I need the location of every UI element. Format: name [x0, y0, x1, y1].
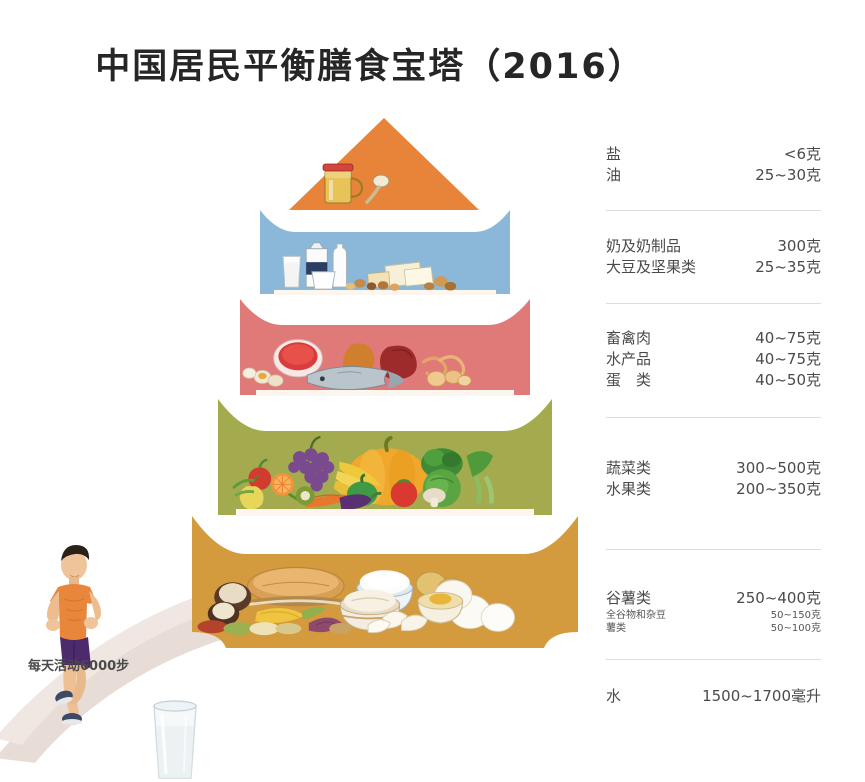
pyramid-tier-grain-tuber: [192, 514, 578, 650]
info-group-grain-tuber: 谷薯类 250~400克 全谷物和杂豆 50~150克 薯类 50~100克: [606, 550, 821, 635]
info-group-dairy-soy: 奶及奶制品 300克 大豆及坚果类 25~35克: [606, 211, 821, 278]
page-title: 中国居民平衡膳食宝塔（2016）: [0, 38, 740, 89]
info-amount: 40~75克: [755, 328, 821, 349]
info-label: 蔬菜类: [606, 458, 651, 479]
info-amount: 300克: [777, 236, 821, 257]
info-sub-amount: 50~150克: [771, 609, 821, 622]
runner-figure: [28, 543, 120, 738]
info-label: 蛋 类: [606, 370, 651, 391]
info-label: 大豆及坚果类: [606, 257, 696, 278]
info-amount: 40~75克: [755, 349, 821, 370]
water-glass: [146, 700, 204, 782]
info-row-fruit: 水果类 200~350克: [606, 479, 821, 500]
info-label: 水: [606, 686, 621, 707]
info-row-vegetables: 蔬菜类 300~500克: [606, 458, 821, 479]
info-amount: 25~35克: [755, 257, 821, 278]
info-amount: 200~350克: [736, 479, 821, 500]
info-group-water: 水 1500~1700毫升: [606, 660, 821, 707]
info-label: 水产品: [606, 349, 651, 370]
info-row-aquatic: 水产品 40~75克: [606, 349, 821, 370]
pyramid-tier-meat-fish-egg: [240, 295, 530, 399]
pyramid-tier-vegetable-fruit: [218, 395, 552, 519]
info-label: 奶及奶制品: [606, 236, 681, 257]
info-group-salt-oil: 盐 <6克 油 25~30克: [606, 140, 821, 186]
food-pagoda-diagram: [0, 118, 600, 648]
info-amount: 250~400克: [736, 588, 821, 609]
info-row-eggs: 蛋 类 40~50克: [606, 370, 821, 391]
info-group-vegetable-fruit: 蔬菜类 300~500克 水果类 200~350克: [606, 418, 821, 500]
info-label: 盐: [606, 144, 621, 165]
info-row-oil: 油 25~30克: [606, 165, 821, 186]
info-row-meat: 畜禽肉 40~75克: [606, 328, 821, 349]
info-row-tubers: 薯类 50~100克: [606, 622, 821, 635]
info-row-water: 水 1500~1700毫升: [606, 686, 821, 707]
nutrition-amounts-panel: 盐 <6克 油 25~30克 奶及奶制品 300克 大豆及坚果类 25~35克 …: [606, 140, 821, 707]
info-row-grains: 谷薯类 250~400克: [606, 588, 821, 609]
info-label: 谷薯类: [606, 588, 651, 609]
info-row-salt: 盐 <6克: [606, 144, 821, 165]
info-sub-label: 薯类: [606, 622, 626, 635]
info-group-meat-fish-egg: 畜禽肉 40~75克 水产品 40~75克 蛋 类 40~50克: [606, 304, 821, 391]
info-row-dairy: 奶及奶制品 300克: [606, 236, 821, 257]
info-row-wholegrain-beans: 全谷物和杂豆 50~150克: [606, 609, 821, 622]
pyramid-tier-dairy-soy: [260, 206, 510, 298]
info-label: 水果类: [606, 479, 651, 500]
info-amount: 40~50克: [755, 370, 821, 391]
info-sub-label: 全谷物和杂豆: [606, 609, 666, 622]
info-amount: 1500~1700毫升: [702, 686, 821, 707]
info-amount: <6克: [784, 144, 821, 165]
pyramid-tier-oil-salt: [289, 118, 479, 210]
info-sub-amount: 50~100克: [771, 622, 821, 635]
info-row-soy-nuts: 大豆及坚果类 25~35克: [606, 257, 821, 278]
daily-activity-caption: 每天活动6000步: [28, 655, 129, 674]
info-label: 油: [606, 165, 621, 186]
info-amount: 25~30克: [755, 165, 821, 186]
info-label: 畜禽肉: [606, 328, 651, 349]
info-amount: 300~500克: [736, 458, 821, 479]
